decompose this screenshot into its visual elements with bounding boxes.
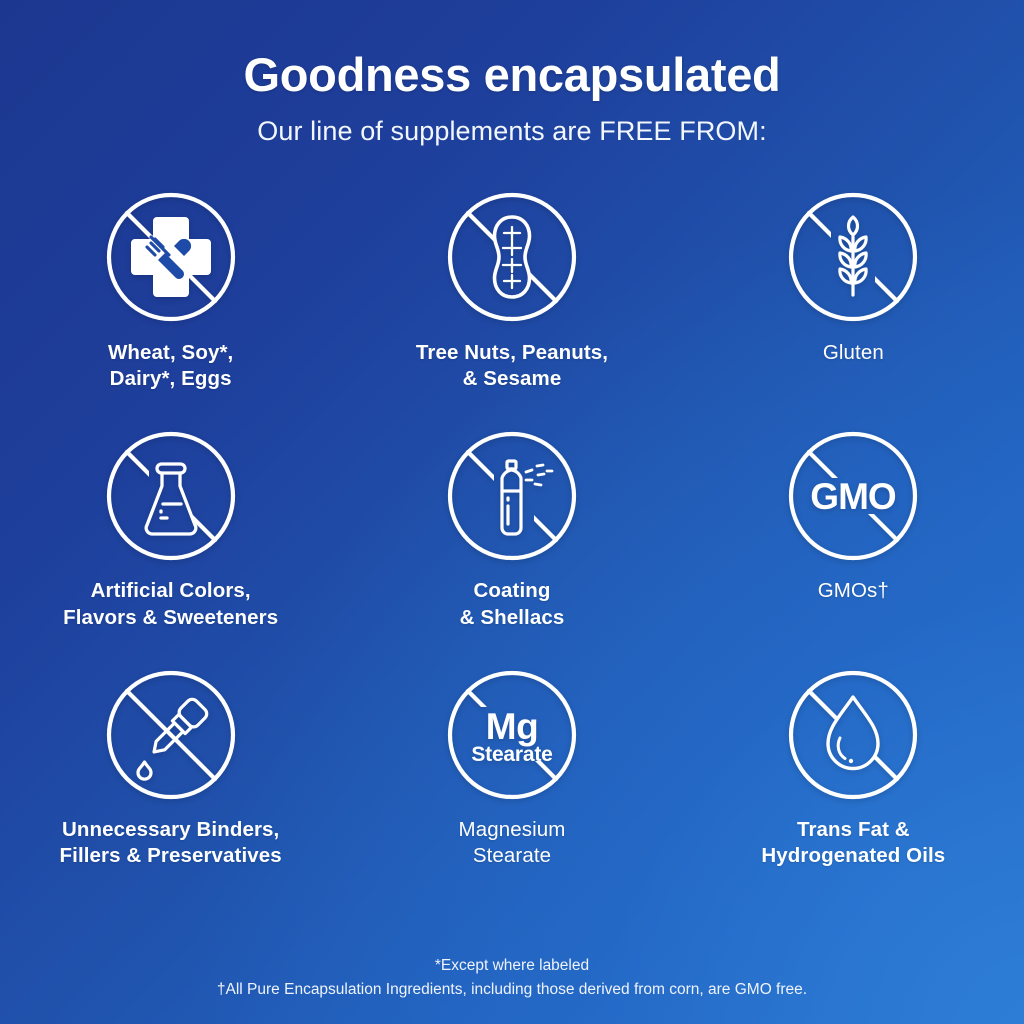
no-dropper-icon xyxy=(105,669,237,801)
free-from-label: Magnesium Stearate xyxy=(459,817,566,869)
free-from-label: Trans Fat & Hydrogenated Oils xyxy=(761,817,945,869)
no-magnesium-stearate-icon: Mg Stearate xyxy=(446,669,578,801)
no-gmo-icon: GMO xyxy=(787,430,919,562)
no-peanut-icon xyxy=(446,191,578,323)
free-from-label: Tree Nuts, Peanuts, & Sesame xyxy=(416,340,608,392)
no-food-allergens-icon xyxy=(105,191,237,323)
page-subtitle: Our line of supplements are FREE FROM: xyxy=(257,116,766,147)
free-from-item-transfat: Trans Fat & Hydrogenated Oils xyxy=(683,669,1024,869)
poster: Goodness encapsulated Our line of supple… xyxy=(0,0,1024,1024)
free-from-item-coating: Coating & Shellacs xyxy=(341,430,682,630)
free-from-label: GMOs† xyxy=(818,578,889,604)
free-from-item-gluten: Gluten xyxy=(683,191,1024,392)
stearate-text: Stearate xyxy=(471,743,552,766)
no-spray-can-icon xyxy=(446,430,578,562)
free-from-label: Artificial Colors, Flavors & Sweeteners xyxy=(63,578,278,630)
gmo-glyph-text: GMO xyxy=(811,476,897,517)
free-from-item-nuts: Tree Nuts, Peanuts, & Sesame xyxy=(341,191,682,392)
page-title: Goodness encapsulated xyxy=(244,50,781,100)
free-from-grid: Wheat, Soy*, Dairy*, Eggs xyxy=(0,191,1024,869)
no-oil-droplet-icon xyxy=(787,669,919,801)
no-flask-icon xyxy=(105,430,237,562)
magnesium-symbol-text: Mg xyxy=(486,706,538,747)
no-wheat-stalk-icon xyxy=(787,191,919,323)
footnotes: *Except where labeled †All Pure Encapsul… xyxy=(0,954,1024,1002)
free-from-item-magnesium: Mg Stearate Magnesium Stearate xyxy=(341,669,682,869)
free-from-label: Coating & Shellacs xyxy=(460,578,565,630)
free-from-label: Wheat, Soy*, Dairy*, Eggs xyxy=(108,340,233,392)
free-from-item-allergens: Wheat, Soy*, Dairy*, Eggs xyxy=(0,191,341,392)
free-from-item-artificial: Artificial Colors, Flavors & Sweeteners xyxy=(0,430,341,630)
free-from-label: Unnecessary Binders, Fillers & Preservat… xyxy=(60,817,282,869)
footnote-asterisk: *Except where labeled xyxy=(0,954,1024,978)
free-from-item-binders: Unnecessary Binders, Fillers & Preservat… xyxy=(0,669,341,869)
free-from-label: Gluten xyxy=(823,340,884,366)
free-from-item-gmo: GMO GMOs† xyxy=(683,430,1024,630)
footnote-dagger: †All Pure Encapsulation Ingredients, inc… xyxy=(0,978,1024,1002)
